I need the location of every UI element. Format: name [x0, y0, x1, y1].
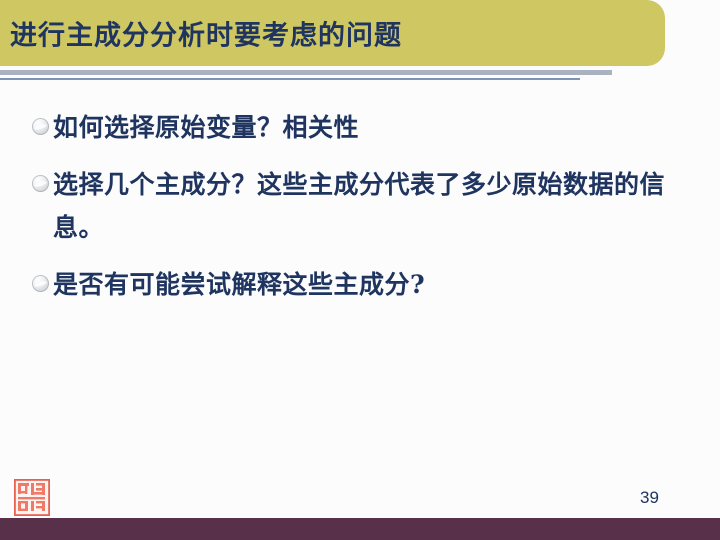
list-item: 是否有可能尝试解释这些主成分?	[32, 263, 692, 306]
page-number: 39	[640, 488, 659, 508]
slide-title: 进行主成分分析时要考虑的问题	[10, 14, 402, 53]
list-item-label: 选择几个主成分？这些主成分代表了多少原始数据的信息。	[53, 163, 665, 249]
sphere-bullet-icon	[32, 175, 49, 192]
title-divider-thick	[0, 70, 612, 75]
list-item-label: 如何选择原始变量？相关性	[53, 106, 359, 149]
red-seal-stamp-icon	[14, 479, 50, 516]
bullet-list: 如何选择原始变量？相关性 选择几个主成分？这些主成分代表了多少原始数据的信息。 …	[32, 106, 692, 320]
list-item-label: 是否有可能尝试解释这些主成分?	[53, 263, 425, 306]
list-item: 如何选择原始变量？相关性	[32, 106, 692, 149]
sphere-bullet-icon	[32, 118, 49, 135]
list-item: 选择几个主成分？这些主成分代表了多少原始数据的信息。	[32, 163, 692, 249]
title-band: 进行主成分分析时要考虑的问题	[0, 0, 665, 66]
footer-bar	[0, 518, 720, 540]
title-divider-thin	[0, 78, 580, 80]
slide-canvas: 进行主成分分析时要考虑的问题 如何选择原始变量？相关性 选择几个主成分？这些主成…	[0, 0, 720, 540]
sphere-bullet-icon	[32, 275, 49, 292]
